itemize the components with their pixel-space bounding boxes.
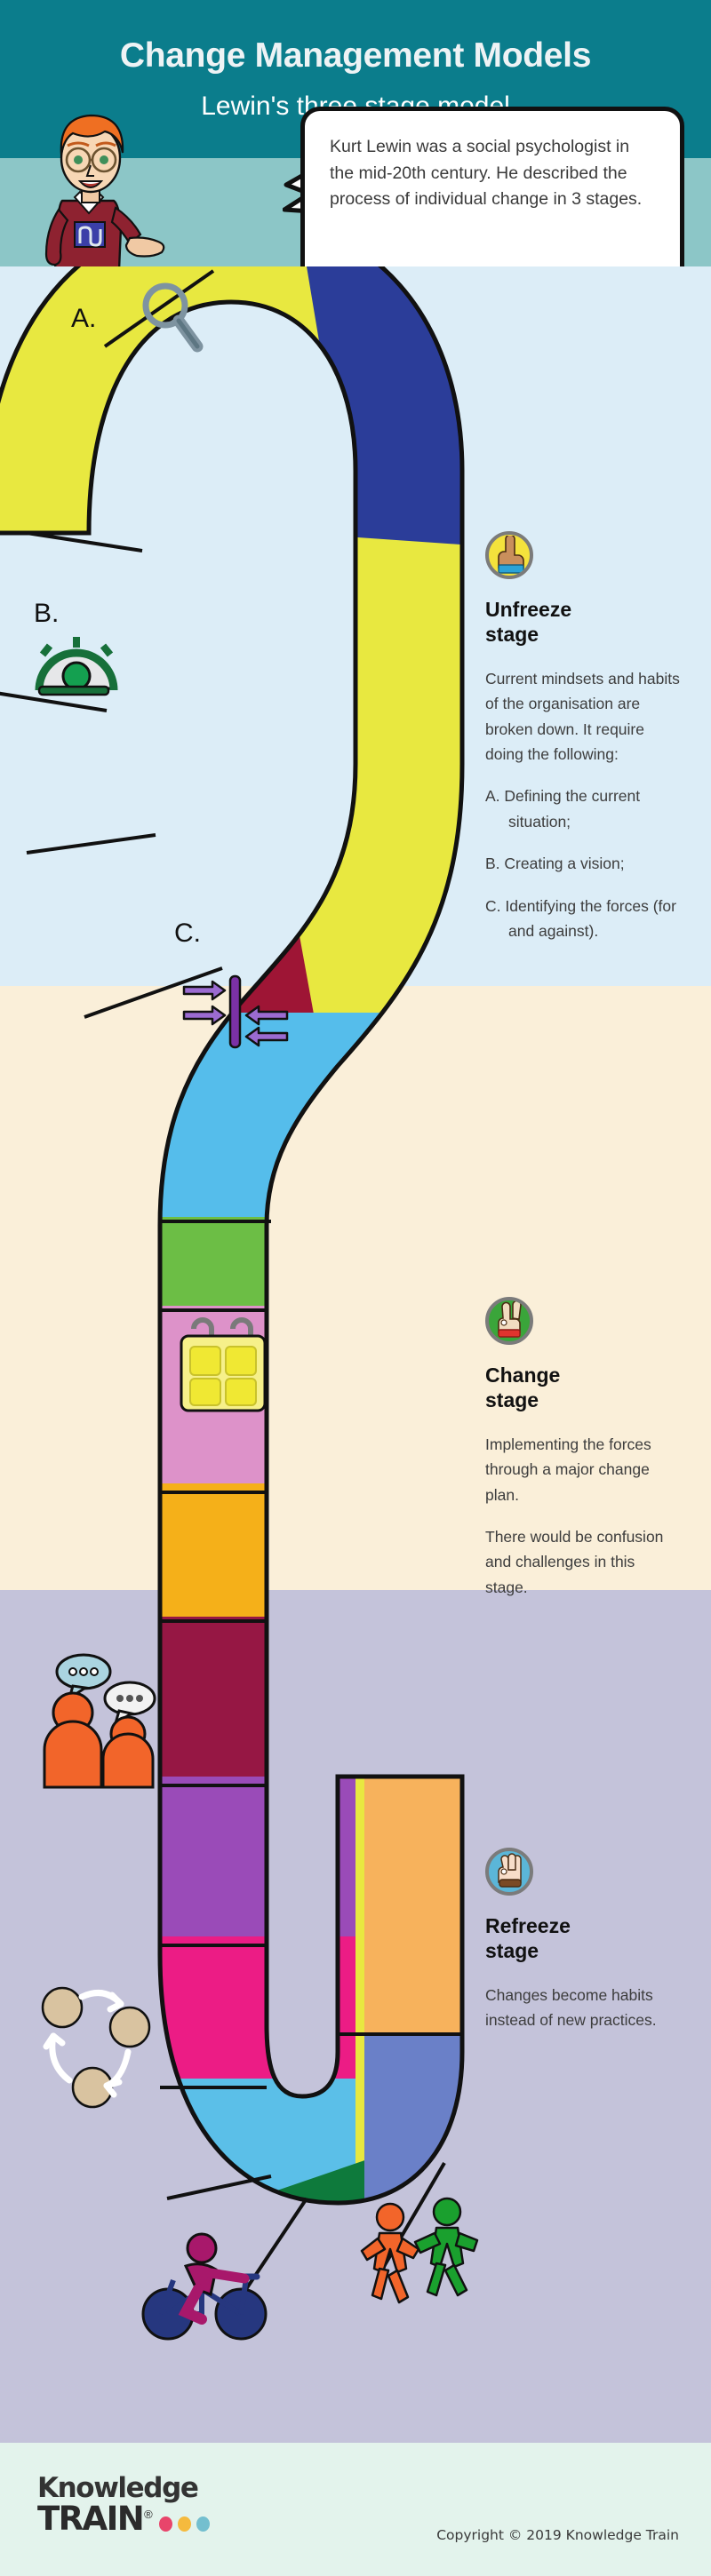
logo-dot-yellow — [178, 2516, 191, 2532]
logo-dot-blue — [196, 2516, 210, 2532]
registered-mark: ® — [144, 2508, 153, 2521]
stage-refreeze: Refreeze stage Changes become habits ins… — [485, 1848, 681, 2033]
refreeze-paragraph: Changes become habits instead of new pra… — [485, 1983, 681, 2033]
stage-body-refreeze: Changes become habits instead of new pra… — [485, 1983, 681, 2033]
stage-body-change: Implementing the forces through a major … — [485, 1432, 681, 1600]
hand-two-fingers-icon — [485, 1297, 533, 1345]
infographic-page: Change Management Models Lewin's three s… — [0, 0, 711, 2576]
unfreeze-item-b: B. Creating a vision; — [485, 851, 681, 876]
stage-change: Change stage Implementing the forces thr… — [485, 1297, 681, 1600]
knowledge-train-logo: Knowledge TRAIN ® — [37, 2475, 210, 2535]
stage-title-refreeze: Refreeze stage — [485, 1913, 681, 1963]
change-paragraph-2: There would be confusion and challenges … — [485, 1524, 681, 1600]
stage-title-change: Change stage — [485, 1363, 681, 1412]
speech-bubble-text: Kurt Lewin was a social psychologist in … — [330, 134, 657, 213]
hand-three-fingers-icon — [485, 1848, 533, 1896]
logo-text-knowledge: Knowledge — [37, 2475, 210, 2501]
stage-title-unfreeze: Unfreeze stage — [485, 597, 681, 647]
footer: Knowledge TRAIN ® Copyright © 2019 Knowl… — [0, 2443, 711, 2576]
stage-unfreeze: Unfreeze stage Current mindsets and habi… — [485, 531, 681, 943]
unfreeze-item-c: C. Identifying the forces (for and again… — [485, 894, 681, 944]
logo-text-train: TRAIN — [37, 2503, 143, 2534]
logo-dots — [159, 2516, 210, 2532]
stage-body-unfreeze: Current mindsets and habits of the organ… — [485, 666, 681, 943]
unfreeze-paragraph: Current mindsets and habits of the organ… — [485, 666, 681, 767]
change-paragraph-1: Implementing the forces through a major … — [485, 1432, 681, 1507]
hand-one-finger-icon — [485, 531, 533, 579]
logo-dot-pink — [159, 2516, 172, 2532]
copyright-text: Copyright © 2019 Knowledge Train — [436, 2527, 679, 2543]
intro-band: Kurt Lewin was a social psychologist in … — [0, 158, 711, 266]
unfreeze-item-a: A. Defining the current situation; — [485, 783, 681, 834]
page-title: Change Management Models — [120, 37, 591, 76]
